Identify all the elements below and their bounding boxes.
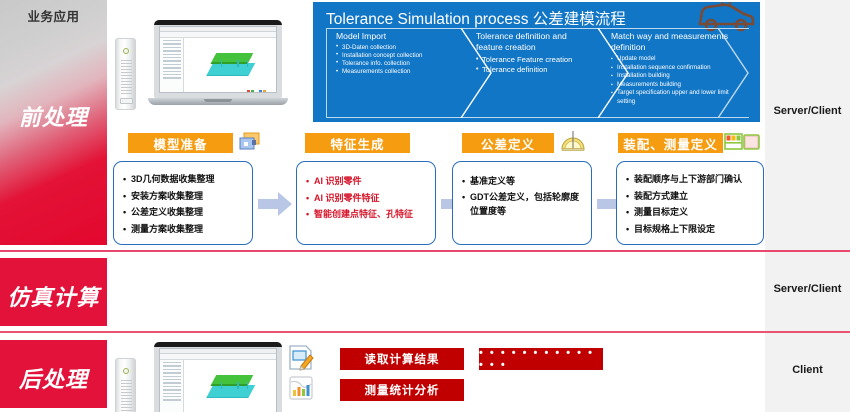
card-feature-gen: AI 识别零件 AI 识别零件特征 智能创建点特征、孔特征 [296, 161, 436, 245]
list-item: 3D-Daten collection [336, 44, 461, 52]
list-item: 公差定义收集整理 [123, 204, 244, 221]
protractor-icon [560, 130, 586, 159]
list-item: AI 识别零件 [306, 173, 427, 190]
list-item: Measurements collection [336, 68, 461, 76]
report-edit-icon [287, 344, 315, 377]
list-item: 装配方式建立 [626, 188, 755, 205]
server-tower-icon [115, 358, 136, 412]
list-item: 基准定义等 [462, 173, 583, 190]
list-item: Tolerance Feature creation [476, 55, 588, 65]
list-item: Tolerance definition [476, 65, 588, 75]
stage-label-postprocess: 后处理 [0, 362, 107, 394]
list-item: GDT公差定义，包括轮廓度位置度等 [462, 190, 583, 218]
stage-label-preprocess: 前处理 [0, 100, 107, 132]
segment-2-list: Tolerance Feature creation Tolerance def… [476, 55, 588, 75]
segment-3-heading: Match way and measurements definition [611, 31, 731, 53]
layers-icon [238, 131, 262, 160]
card-model-prep-list: 3D几何数据收集整理 安装方案收集整理 公差定义收集整理 测量方案收集整理 [114, 162, 252, 237]
step-header-feature-gen[interactable]: 特征生成 [305, 133, 410, 153]
list-item: Update model [611, 55, 731, 64]
chevron-segment-3: Match way and measurements definition Up… [611, 31, 731, 107]
server-tower-icon [115, 38, 136, 110]
segment-2-heading: Tolerance definition and feature creatio… [476, 31, 588, 53]
list-item: Measurements building [611, 81, 731, 90]
list-item: 装配顺序与上下游部门确认 [626, 171, 755, 188]
segment-3-list: Update model Installation sequence confi… [611, 55, 731, 107]
list-item: 智能创建点特征、孔特征 [306, 206, 427, 223]
segment-1-list: 3D-Daten collection Installation concept… [336, 44, 461, 77]
card-feature-gen-list: AI 识别零件 AI 识别零件特征 智能创建点特征、孔特征 [297, 162, 435, 223]
list-item: Installation building [611, 72, 731, 81]
deployment-label-preprocess: Server/Client [765, 105, 850, 117]
bar-chart-icon [288, 375, 314, 406]
card-model-prep: 3D几何数据收集整理 安装方案收集整理 公差定义收集整理 测量方案收集整理 [113, 161, 253, 245]
step-header-assembly-measure-def[interactable]: 装配、测量定义 [618, 133, 723, 153]
card-tolerance-def: 基准定义等 GDT公差定义，包括轮廓度位置度等 [452, 161, 592, 245]
chevron-segment-1: Model Import 3D-Daten collection Install… [336, 31, 461, 76]
assembly-icon [724, 131, 762, 158]
card-tolerance-def-list: 基准定义等 GDT公差定义，包括轮廓度位置度等 [453, 162, 591, 218]
card-assembly-measure: 装配顺序与上下游部门确认 装配方式建立 测量目标定义 目标规格上下限设定 [616, 161, 764, 245]
segment-1-heading: Model Import [336, 31, 461, 42]
list-item: 安装方案收集整理 [123, 188, 244, 205]
read-results-button[interactable]: 读取计算结果 [340, 348, 464, 370]
measurement-statistics-button[interactable]: 测量统计分析 [340, 379, 464, 401]
card-assembly-measure-list: 装配顺序与上下游部门确认 装配方式建立 测量目标定义 目标规格上下限设定 [617, 162, 763, 237]
list-item: 测量目标定义 [626, 204, 755, 221]
chevron-segment-2: Tolerance definition and feature creatio… [476, 31, 588, 75]
divider-2 [0, 331, 850, 333]
slide-root: 业务应用 前处理 仿真计算 后处理 Server/Client Server/C… [0, 0, 850, 412]
list-item: AI 识别零件特征 [306, 190, 427, 207]
deployment-column [765, 0, 850, 412]
deployment-label-simulation: Server/Client [765, 283, 850, 295]
flow-arrow-1 [258, 192, 292, 221]
step-header-tolerance-def[interactable]: 公差定义 [462, 133, 554, 153]
stage-label-simulation: 仿真计算 [0, 280, 107, 312]
list-item: Installation sequence confirmation [611, 64, 731, 73]
list-item: 测量方案收集整理 [123, 221, 244, 238]
step-header-model-prep[interactable]: 模型准备 [128, 133, 233, 153]
divider-1 [0, 250, 850, 252]
list-item: 目标规格上下限设定 [626, 221, 755, 238]
business-application-label: 业务应用 [0, 6, 107, 25]
list-item: 3D几何数据收集整理 [123, 171, 244, 188]
placeholder-button[interactable]: • • • • • • • • • • • • • • [479, 348, 603, 370]
list-item: Tolerance info. collection [336, 60, 461, 68]
banner-title: Tolerance Simulation process 公差建模流程 [326, 7, 626, 29]
list-item: Target specification upper and lower lim… [611, 89, 731, 106]
tolerance-simulation-banner: Tolerance Simulation process 公差建模流程 [313, 2, 760, 122]
process-chevrons: Model Import 3D-Daten collection Install… [326, 28, 749, 118]
deployment-label-postprocess: Client [765, 364, 850, 376]
list-item: Installation concept collection [336, 52, 461, 60]
